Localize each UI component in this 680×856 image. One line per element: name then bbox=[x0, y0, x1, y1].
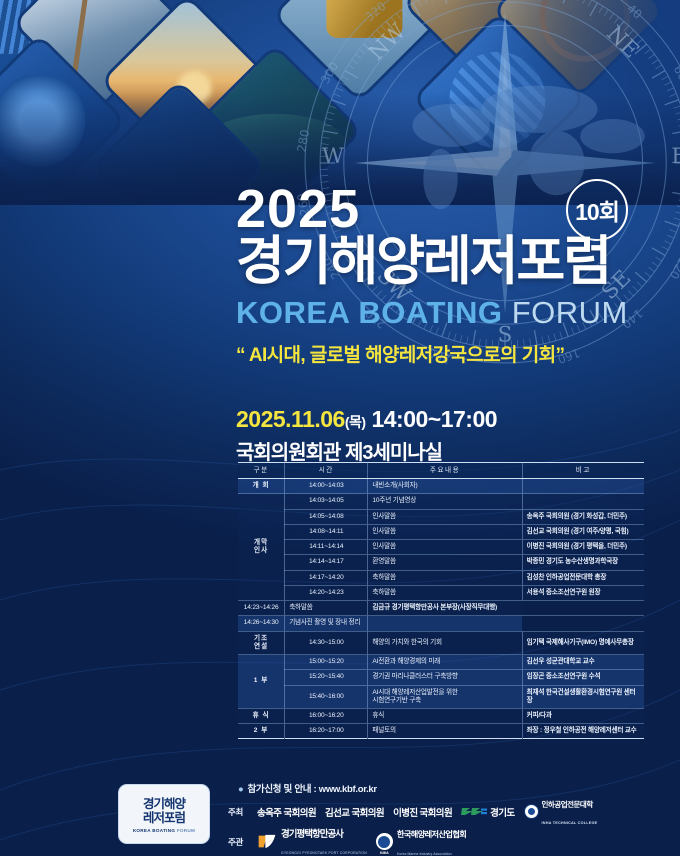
table-row: 15:40~16:00AI시대 해양레저산업발전을 위한시험연구기반 구축최재석… bbox=[238, 685, 644, 708]
table-row: 14:05~14:08인사말씀송옥주 국회의원 (경기 화성갑, 더민주) bbox=[238, 509, 644, 524]
cell-content: 축하말씀 bbox=[285, 601, 368, 616]
table-header-row: 구분 시간 주요내용 비고 bbox=[238, 463, 644, 479]
cell-remarks: 좌장 : 정우철 인하공전 해양레저센터 교수 bbox=[522, 724, 644, 739]
pyeongtaek-port-logo: 경기평택항만공사 GYEONGGI PYEONGTAEK PORT CORPOR… bbox=[257, 825, 367, 856]
cell-remarks: 서용석 중소조선연구원 원장 bbox=[522, 585, 644, 600]
poster-title-english: KOREA BOATING FORUM bbox=[236, 295, 680, 331]
event-day-of-week: (목) bbox=[345, 414, 366, 430]
poster-footer: 경기해양 레저포럼 KOREA BOATING FORUM 주최 송옥주 국회의… bbox=[0, 782, 680, 856]
column-header-section: 구분 bbox=[238, 463, 285, 479]
cell-time: 14:17~14:20 bbox=[285, 570, 368, 585]
compass-label-nw: NW bbox=[364, 18, 411, 65]
title-en-light: FORUM bbox=[512, 295, 628, 330]
kmia-logo: KMIA 한국해양레저산업협회 Korea Marine Industry As… bbox=[376, 824, 466, 856]
compass-label-w: W bbox=[322, 144, 345, 169]
pyeongtaek-name-ko: 경기평택항만공사 bbox=[281, 829, 343, 840]
cell-remarks: 임장곤 중소조선연구원 수석 bbox=[522, 670, 644, 685]
column-header-content: 주요내용 bbox=[368, 463, 522, 479]
cell-content: 기념사진 촬영 및 장내 정리 bbox=[285, 616, 368, 631]
cell-section: 휴 식 bbox=[238, 708, 285, 723]
forum-logo-english: KOREA BOATING FORUM bbox=[133, 828, 195, 833]
inha-seal-icon bbox=[524, 804, 539, 819]
cell-remarks: 임기택 국제해사기구(IMO) 명예사무총장 bbox=[522, 631, 644, 654]
cell-remarks bbox=[522, 494, 644, 509]
cell-content: 환영말씀 bbox=[368, 555, 522, 570]
pyeongtaek-name-en: GYEONGGI PYEONGTAEK PORT CORPORATION bbox=[281, 851, 367, 855]
cell-content: 휴식 bbox=[368, 708, 522, 723]
forum-logo-line2: 레저포럼 bbox=[143, 811, 185, 825]
cell-time: 14:23~14:26 bbox=[238, 601, 285, 616]
cell-time: 14:00~14:03 bbox=[285, 479, 368, 494]
cell-remarks: 송옥주 국회의원 (경기 화성갑, 더민주) bbox=[522, 509, 644, 524]
organizer-row: 주관 경기평택항만공사 GYEONGGI PYEONGTAEK PORT COR… bbox=[228, 824, 466, 856]
cell-section: 개막인사 bbox=[238, 494, 285, 601]
event-date: 2025.11.06 bbox=[236, 406, 345, 432]
cell-remarks: 커피/다과 bbox=[522, 708, 644, 723]
cell-remarks: 김선우 성균관대학교 교수 bbox=[522, 655, 644, 670]
compass-label-e: E bbox=[671, 144, 680, 169]
inha-name-en: INHA TECHNICAL COLLEGE bbox=[542, 821, 598, 825]
date-venue-block: 2025.11.06(목) 14:00~17:00 국회의원회관 제3세미나실 bbox=[236, 406, 497, 465]
cell-section: 기조연설 bbox=[238, 631, 285, 654]
cell-remarks bbox=[368, 616, 522, 631]
compass-label-n: N bbox=[496, 0, 515, 6]
compass-label-ne: NE bbox=[601, 21, 643, 63]
cell-time: 15:00~15:20 bbox=[285, 655, 368, 670]
cell-content: AI전환과 해양경제의 미래 bbox=[368, 655, 522, 670]
cell-content: 내빈소개(사회자) bbox=[368, 479, 522, 494]
kmia-seal-icon: KMIA bbox=[376, 833, 393, 850]
table-row: 개막인사14:03~14:0510주년 기념영상 bbox=[238, 494, 644, 509]
table-row: 14:20~14:23축하말씀서용석 중소조선연구원 원장 bbox=[238, 585, 644, 600]
gyeonggi-province-logo: 경기도 bbox=[461, 805, 514, 819]
cell-content: 경기권 마리나클러스터 구축방향 bbox=[368, 670, 522, 685]
kmia-name-en: Korea Marine Industry Association bbox=[397, 852, 452, 856]
cell-remarks: 최재석 한국건설생활환경시험연구원 센터장 bbox=[522, 685, 644, 708]
cell-remarks: 김금규 경기평택항만공사 본부장(사장직무대행) bbox=[368, 601, 522, 616]
forum-logo-en-light: FORUM bbox=[177, 828, 195, 833]
kmia-text: 한국해양레저산업협회 Korea Marine Industry Associa… bbox=[397, 824, 466, 856]
cell-remarks: 김선교 국회의원 (경기 여주/양평, 국힘) bbox=[522, 524, 644, 539]
inha-text: 인하공업전문대학 INHA TECHNICAL COLLEGE bbox=[542, 795, 598, 829]
table-row: 14:17~14:20축하말씀김성찬 인하공업전문대학 총장 bbox=[238, 570, 644, 585]
table-row: 기조연설14:30~15:00해양의 가치와 한국의 기회임기택 국제해사기구(… bbox=[238, 631, 644, 654]
cell-remarks: 이병진 국회의원 (경기 평택을, 더민주) bbox=[522, 540, 644, 555]
program-table: 구분 시간 주요내용 비고 개 회14:00~14:03내빈소개(사회자)개막인… bbox=[238, 462, 644, 739]
svg-text:300: 300 bbox=[318, 60, 341, 87]
title-en-bold: KOREA BOATING bbox=[236, 295, 503, 330]
cell-section: 2 부 bbox=[238, 724, 285, 739]
cell-time: 14:05~14:08 bbox=[285, 509, 368, 524]
host-label: 주최 bbox=[228, 806, 248, 818]
cell-time: 16:00~16:20 bbox=[285, 708, 368, 723]
program-table-body: 개 회14:00~14:03내빈소개(사회자)개막인사14:03~14:0510… bbox=[238, 479, 644, 739]
table-row: 휴 식16:00~16:20휴식커피/다과 bbox=[238, 708, 644, 723]
poster-title-korean: 경기해양레저포럼 bbox=[236, 233, 680, 291]
cell-content: 패널토의 bbox=[368, 724, 522, 739]
inha-college-logo: 인하공업전문대학 INHA TECHNICAL COLLEGE bbox=[524, 795, 598, 829]
title-block: 2025 경기해양레저포럼 KOREA BOATING FORUM “ AI시대… bbox=[0, 182, 680, 367]
table-row: 14:14~14:17환영말씀박종민 경기도 농수산생명과학국장 bbox=[238, 555, 644, 570]
cell-time: 14:14~14:17 bbox=[285, 555, 368, 570]
cell-content: 10주년 기념영상 bbox=[368, 494, 522, 509]
table-row: 2 부16:20~17:00패널토의좌장 : 정우철 인하공전 해양레저센터 교… bbox=[238, 724, 644, 739]
cell-content: 인사말씀 bbox=[368, 509, 522, 524]
svg-text:60: 60 bbox=[671, 63, 680, 83]
event-time: 14:00~17:00 bbox=[371, 406, 497, 432]
event-venue: 국회의원회관 제3세미나실 bbox=[236, 436, 497, 465]
table-row: 14:23~14:26축하말씀김금규 경기평택항만공사 본부장(사장직무대행) bbox=[238, 601, 644, 616]
cell-remarks: 김성찬 인하공업전문대학 총장 bbox=[522, 570, 644, 585]
program-table-head: 구분 시간 주요내용 비고 bbox=[238, 463, 644, 479]
cell-time: 14:30~15:00 bbox=[285, 631, 368, 654]
cell-section: 개 회 bbox=[238, 479, 285, 494]
cell-content: 축하말씀 bbox=[368, 570, 522, 585]
inha-name-ko: 인하공업전문대학 bbox=[542, 800, 593, 809]
table-row: 15:20~15:40경기권 마리나클러스터 구축방향임장곤 중소조선연구원 수… bbox=[238, 670, 644, 685]
host-1: 송옥주 국회의원 bbox=[257, 805, 316, 819]
kmia-abbr: KMIA bbox=[376, 851, 393, 855]
cell-section: 1 부 bbox=[238, 655, 285, 709]
host-2: 김선교 국회의원 bbox=[325, 805, 384, 819]
table-row: 14:11~14:14인사말씀이병진 국회의원 (경기 평택을, 더민주) bbox=[238, 540, 644, 555]
organizer-label: 주관 bbox=[228, 836, 248, 848]
kmia-name-ko: 한국해양레저산업협회 bbox=[397, 830, 466, 839]
table-row: 14:08~14:11인사말씀김선교 국회의원 (경기 여주/양평, 국힘) bbox=[238, 524, 644, 539]
cell-time: 15:20~15:40 bbox=[285, 670, 368, 685]
cell-time: 14:03~14:05 bbox=[285, 494, 368, 509]
cell-content: 축하말씀 bbox=[368, 585, 522, 600]
forum-logo-en-bold: KOREA BOATING bbox=[133, 828, 175, 833]
table-row: 14:26~14:30기념사진 촬영 및 장내 정리 bbox=[238, 616, 644, 631]
gyeonggi-mark-icon bbox=[461, 806, 487, 817]
program-table-wrapper: 구분 시간 주요내용 비고 개 회14:00~14:03내빈소개(사회자)개막인… bbox=[238, 462, 644, 739]
event-poster: N NE E SE S SW W NW 0 20 40 60 80 100 12… bbox=[0, 0, 680, 856]
forum-logo-line1: 경기해양 bbox=[143, 797, 185, 811]
table-row: 1 부15:00~15:20AI전환과 해양경제의 미래김선우 성균관대학교 교… bbox=[238, 655, 644, 670]
cell-time: 14:08~14:11 bbox=[285, 524, 368, 539]
svg-text:280: 280 bbox=[294, 128, 312, 153]
cell-time: 14:26~14:30 bbox=[238, 616, 285, 631]
cell-time: 14:20~14:23 bbox=[285, 585, 368, 600]
cell-content: 인사말씀 bbox=[368, 540, 522, 555]
table-row: 개 회14:00~14:03내빈소개(사회자) bbox=[238, 479, 644, 494]
forum-logo: 경기해양 레저포럼 KOREA BOATING FORUM bbox=[118, 784, 210, 844]
cell-time: 16:20~17:00 bbox=[285, 724, 368, 739]
cell-time: 15:40~16:00 bbox=[285, 685, 368, 708]
cell-content: 인사말씀 bbox=[368, 524, 522, 539]
event-datetime: 2025.11.06(목) 14:00~17:00 bbox=[236, 406, 497, 433]
pyeongtaek-text: 경기평택항만공사 GYEONGGI PYEONGTAEK PORT CORPOR… bbox=[281, 825, 367, 856]
cell-content: 해양의 가치와 한국의 기회 bbox=[368, 631, 522, 654]
poster-year: 2025 bbox=[236, 182, 680, 237]
cell-content: AI시대 해양레저산업발전을 위한시험연구기반 구축 bbox=[368, 685, 522, 708]
column-header-remarks: 비고 bbox=[522, 463, 644, 479]
cell-remarks bbox=[522, 479, 644, 494]
pyeongtaek-mark-icon bbox=[257, 833, 277, 850]
cell-remarks: 박종민 경기도 농수산생명과학국장 bbox=[522, 555, 644, 570]
gyeonggi-label: 경기도 bbox=[490, 805, 514, 819]
cell-time: 14:11~14:14 bbox=[285, 540, 368, 555]
poster-slogan: “ AI시대, 글로벌 해양레저강국으로의 기회” bbox=[236, 340, 680, 367]
host-3: 이병진 국회의원 bbox=[393, 805, 452, 819]
column-header-time: 시간 bbox=[285, 463, 368, 479]
